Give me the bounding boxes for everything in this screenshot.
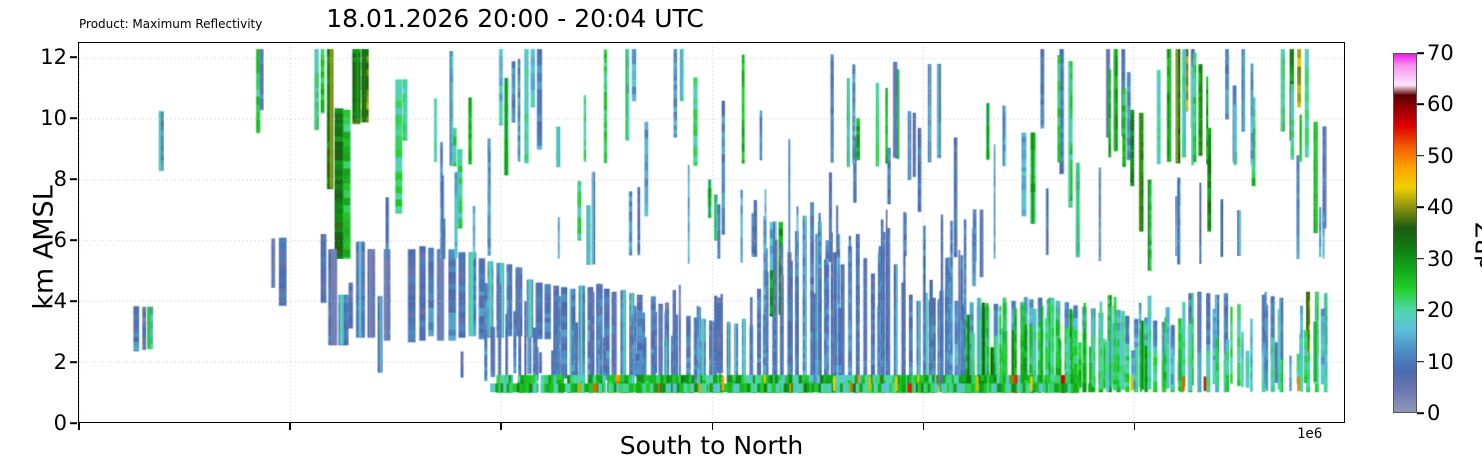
colorbar-tick-mark [1417,412,1424,414]
colorbar-tick-mark [1417,361,1424,363]
colorbar-tick-mark [1417,52,1424,54]
colorbar-tick-mark [1417,309,1424,311]
colorbar-tick-label: 20 [1427,298,1454,322]
radar-cross-section-figure: 18.01.2026 20:00 - 20:04 UTC Product: Ma… [0,0,1482,470]
product-label: Product: Maximum Reflectivity [79,17,262,31]
x-tick-mark [78,423,80,430]
plot-area [78,42,1345,423]
x-tick-mark [923,423,925,430]
y-tick-mark [70,239,77,241]
colorbar-tick-label: 40 [1427,195,1454,219]
y-tick-label: 12 [40,45,67,69]
x-axis-offset-text: 1e6 [1297,426,1322,442]
y-axis-label: km AMSL [29,118,60,378]
y-tick-mark [70,422,77,424]
x-tick-mark [289,423,291,430]
colorbar-tick-label: 30 [1427,247,1454,271]
x-tick-mark [1134,423,1136,430]
colorbar-label: dBZ [1471,156,1482,336]
colorbar [1393,53,1417,413]
colorbar-tick-mark [1417,155,1424,157]
colorbar-gradient [1393,53,1417,413]
y-tick-mark [70,178,77,180]
y-tick-label: 0 [54,411,67,435]
y-tick-mark [70,300,77,302]
y-tick-mark [70,117,77,119]
colorbar-tick-mark [1417,258,1424,260]
y-tick-mark [70,361,77,363]
colorbar-tick-label: 60 [1427,92,1454,116]
colorbar-tick-mark [1417,104,1424,106]
x-tick-mark [712,423,714,430]
x-tick-mark [500,423,502,430]
colorbar-tick-mark [1417,206,1424,208]
colorbar-tick-label: 70 [1427,41,1454,65]
colorbar-tick-label: 0 [1427,401,1440,425]
x-axis-label: South to North [78,431,1345,460]
colorbar-tick-label: 50 [1427,144,1454,168]
colorbar-tick-label: 10 [1427,350,1454,374]
y-tick-mark [70,56,77,58]
reflectivity-heatmap [79,43,1344,422]
